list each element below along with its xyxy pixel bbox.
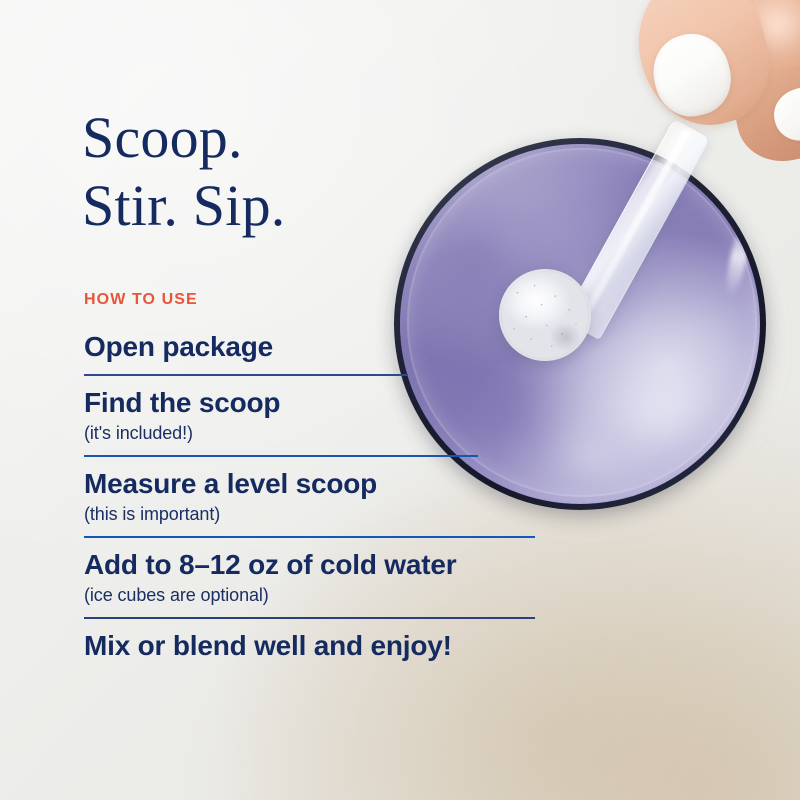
step-item-2: Find the scoop (it's included!) xyxy=(84,386,554,445)
step-title: Find the scoop xyxy=(84,386,554,420)
step-title: Measure a level scoop xyxy=(84,467,554,501)
step-divider-1 xyxy=(84,374,408,376)
text-content: Scoop. Stir. Sip. HOW TO USE Open packag… xyxy=(0,0,800,800)
step-title: Add to 8–12 oz of cold water xyxy=(84,548,554,582)
step-note: (this is important) xyxy=(84,502,554,526)
step-note: (ice cubes are optional) xyxy=(84,583,554,607)
step-title: Mix or blend well and enjoy! xyxy=(84,629,554,663)
step-note: (it's included!) xyxy=(84,421,554,445)
step-item-1: Open package xyxy=(84,330,554,364)
promo-graphic: Scoop. Stir. Sip. HOW TO USE Open packag… xyxy=(0,0,800,800)
step-divider-4 xyxy=(84,617,535,619)
step-item-4: Add to 8–12 oz of cold water (ice cubes … xyxy=(84,548,554,607)
step-divider-3 xyxy=(84,536,535,538)
how-to-use-steps: Open package Find the scoop (it's includ… xyxy=(84,330,554,663)
step-title: Open package xyxy=(84,330,554,364)
step-item-5: Mix or blend well and enjoy! xyxy=(84,629,554,663)
section-eyebrow-label: HOW TO USE xyxy=(84,291,198,309)
step-item-3: Measure a level scoop (this is important… xyxy=(84,467,554,526)
page-title: Scoop. Stir. Sip. xyxy=(82,104,285,240)
step-divider-2 xyxy=(84,455,478,457)
